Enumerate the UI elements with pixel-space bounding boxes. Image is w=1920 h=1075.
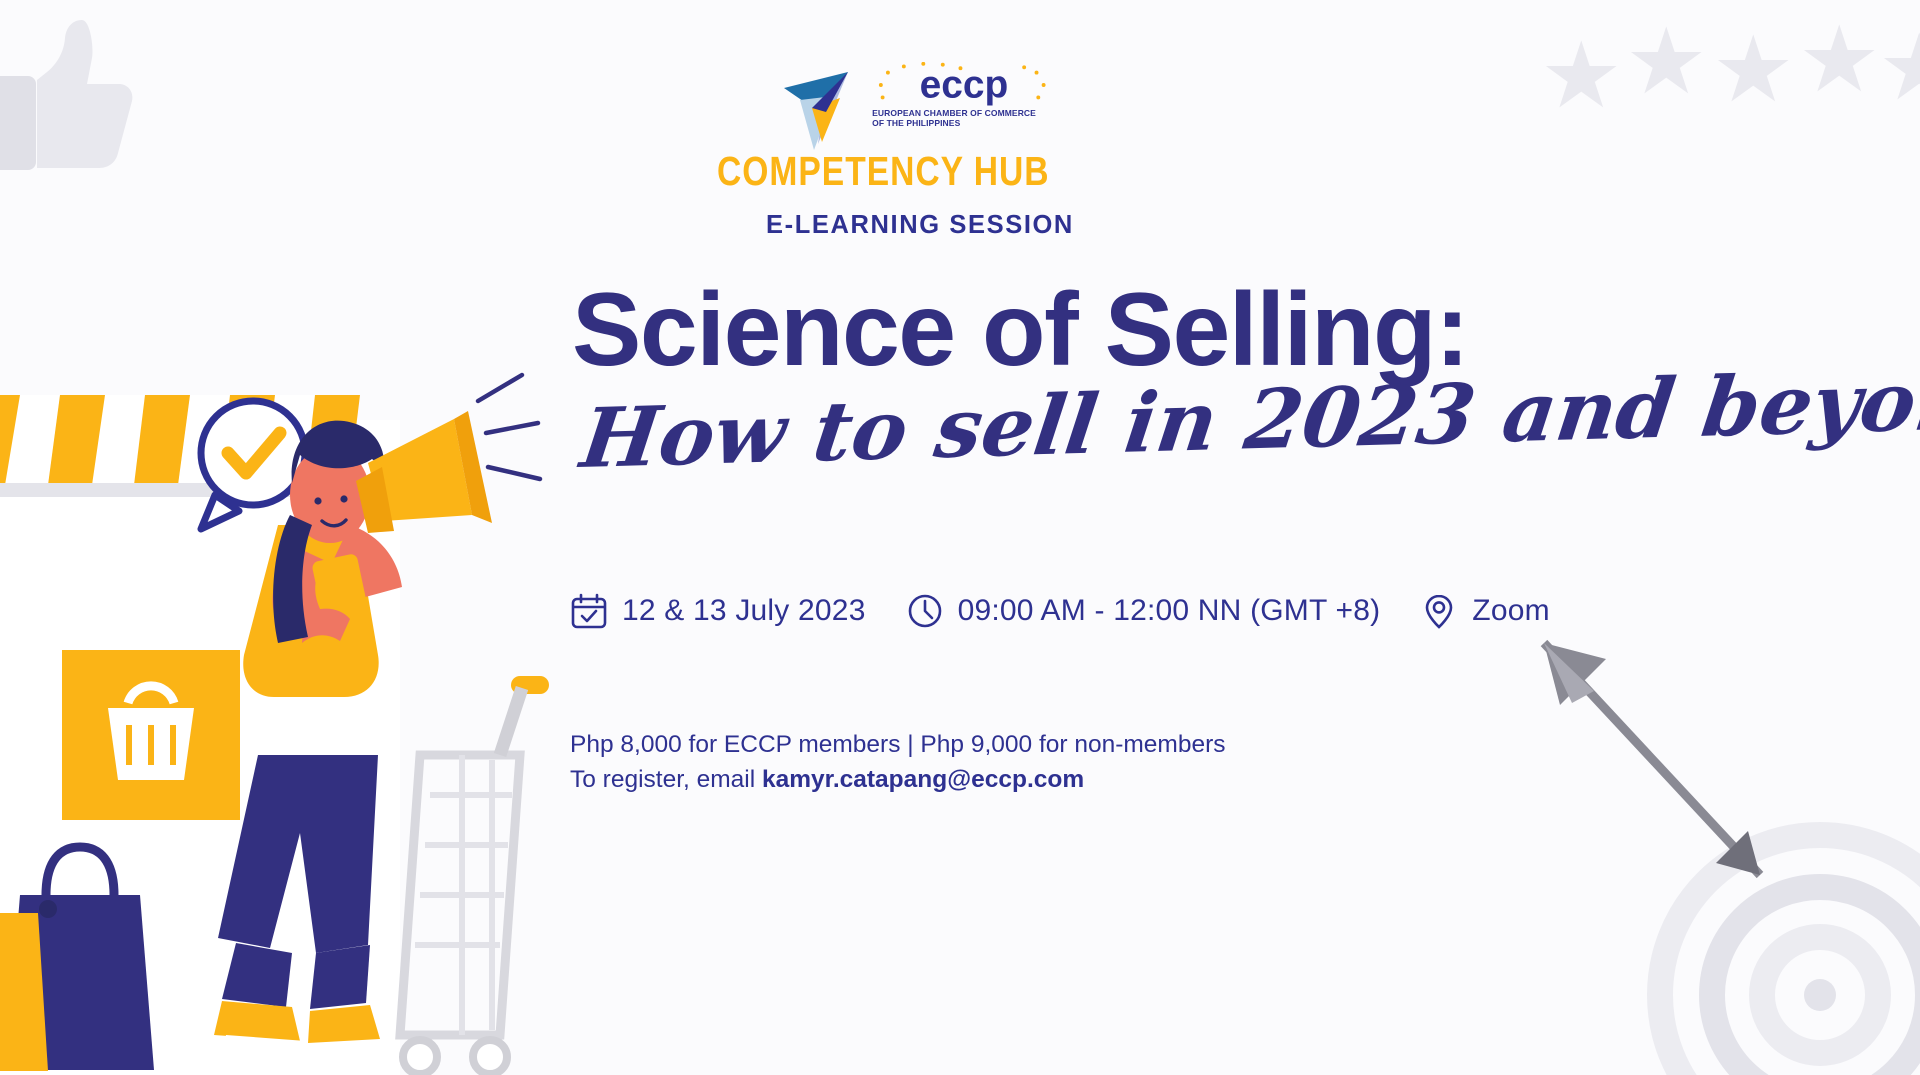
detail-location: Zoom — [1420, 592, 1550, 630]
eccp-paper-plane-logo — [782, 66, 868, 152]
logo-type: eccp EUROPEAN CHAMBER OF COMMERCE OF THE… — [872, 62, 1058, 128]
shopping-basket-icon — [62, 650, 240, 820]
detail-time: 09:00 AM - 12:00 NN (GMT +8) — [906, 592, 1381, 630]
content-column: eccp EUROPEAN CHAMBER OF COMMERCE OF THE… — [700, 0, 1920, 1075]
shopping-cart-icon — [400, 685, 540, 1074]
detail-location-text: Zoom — [1472, 594, 1550, 628]
competency-hub-label: COMPETENCY HUB — [717, 148, 1050, 195]
location-pin-icon — [1420, 592, 1458, 630]
detail-date-text: 12 & 13 July 2023 — [622, 594, 866, 628]
detail-date: 12 & 13 July 2023 — [570, 592, 866, 630]
logo-row: eccp EUROPEAN CHAMBER OF COMMERCE OF THE… — [570, 62, 1270, 152]
register-email[interactable]: kamyr.catapang@eccp.com — [762, 766, 1084, 793]
footer-info: Php 8,000 for ECCP members | Php 9,000 f… — [570, 728, 1225, 798]
clock-icon — [906, 592, 944, 630]
detail-time-text: 09:00 AM - 12:00 NN (GMT +8) — [958, 594, 1381, 628]
calendar-icon — [570, 592, 608, 630]
svg-text:eccp: eccp — [920, 63, 1009, 106]
brand-header: eccp EUROPEAN CHAMBER OF COMMERCE OF THE… — [570, 62, 1270, 240]
session-label: E-LEARNING SESSION — [570, 211, 1270, 240]
eccp-wordmark: eccp — [872, 62, 1058, 108]
logo-subtitle: EUROPEAN CHAMBER OF COMMERCE OF THE PHIL… — [872, 109, 1036, 128]
register-line: To register, email kamyr.catapang@eccp.c… — [570, 763, 1225, 798]
thumbs-up-icon — [0, 10, 150, 180]
event-details-row: 12 & 13 July 2023 09:00 AM - 12:00 NN (G… — [570, 592, 1550, 630]
register-prefix: To register, email — [570, 766, 762, 793]
pricing-text: Php 8,000 for ECCP members | Php 9,000 f… — [570, 728, 1225, 763]
banner-canvas: ★ ★ ★ ★ ★ — [0, 0, 1920, 1075]
